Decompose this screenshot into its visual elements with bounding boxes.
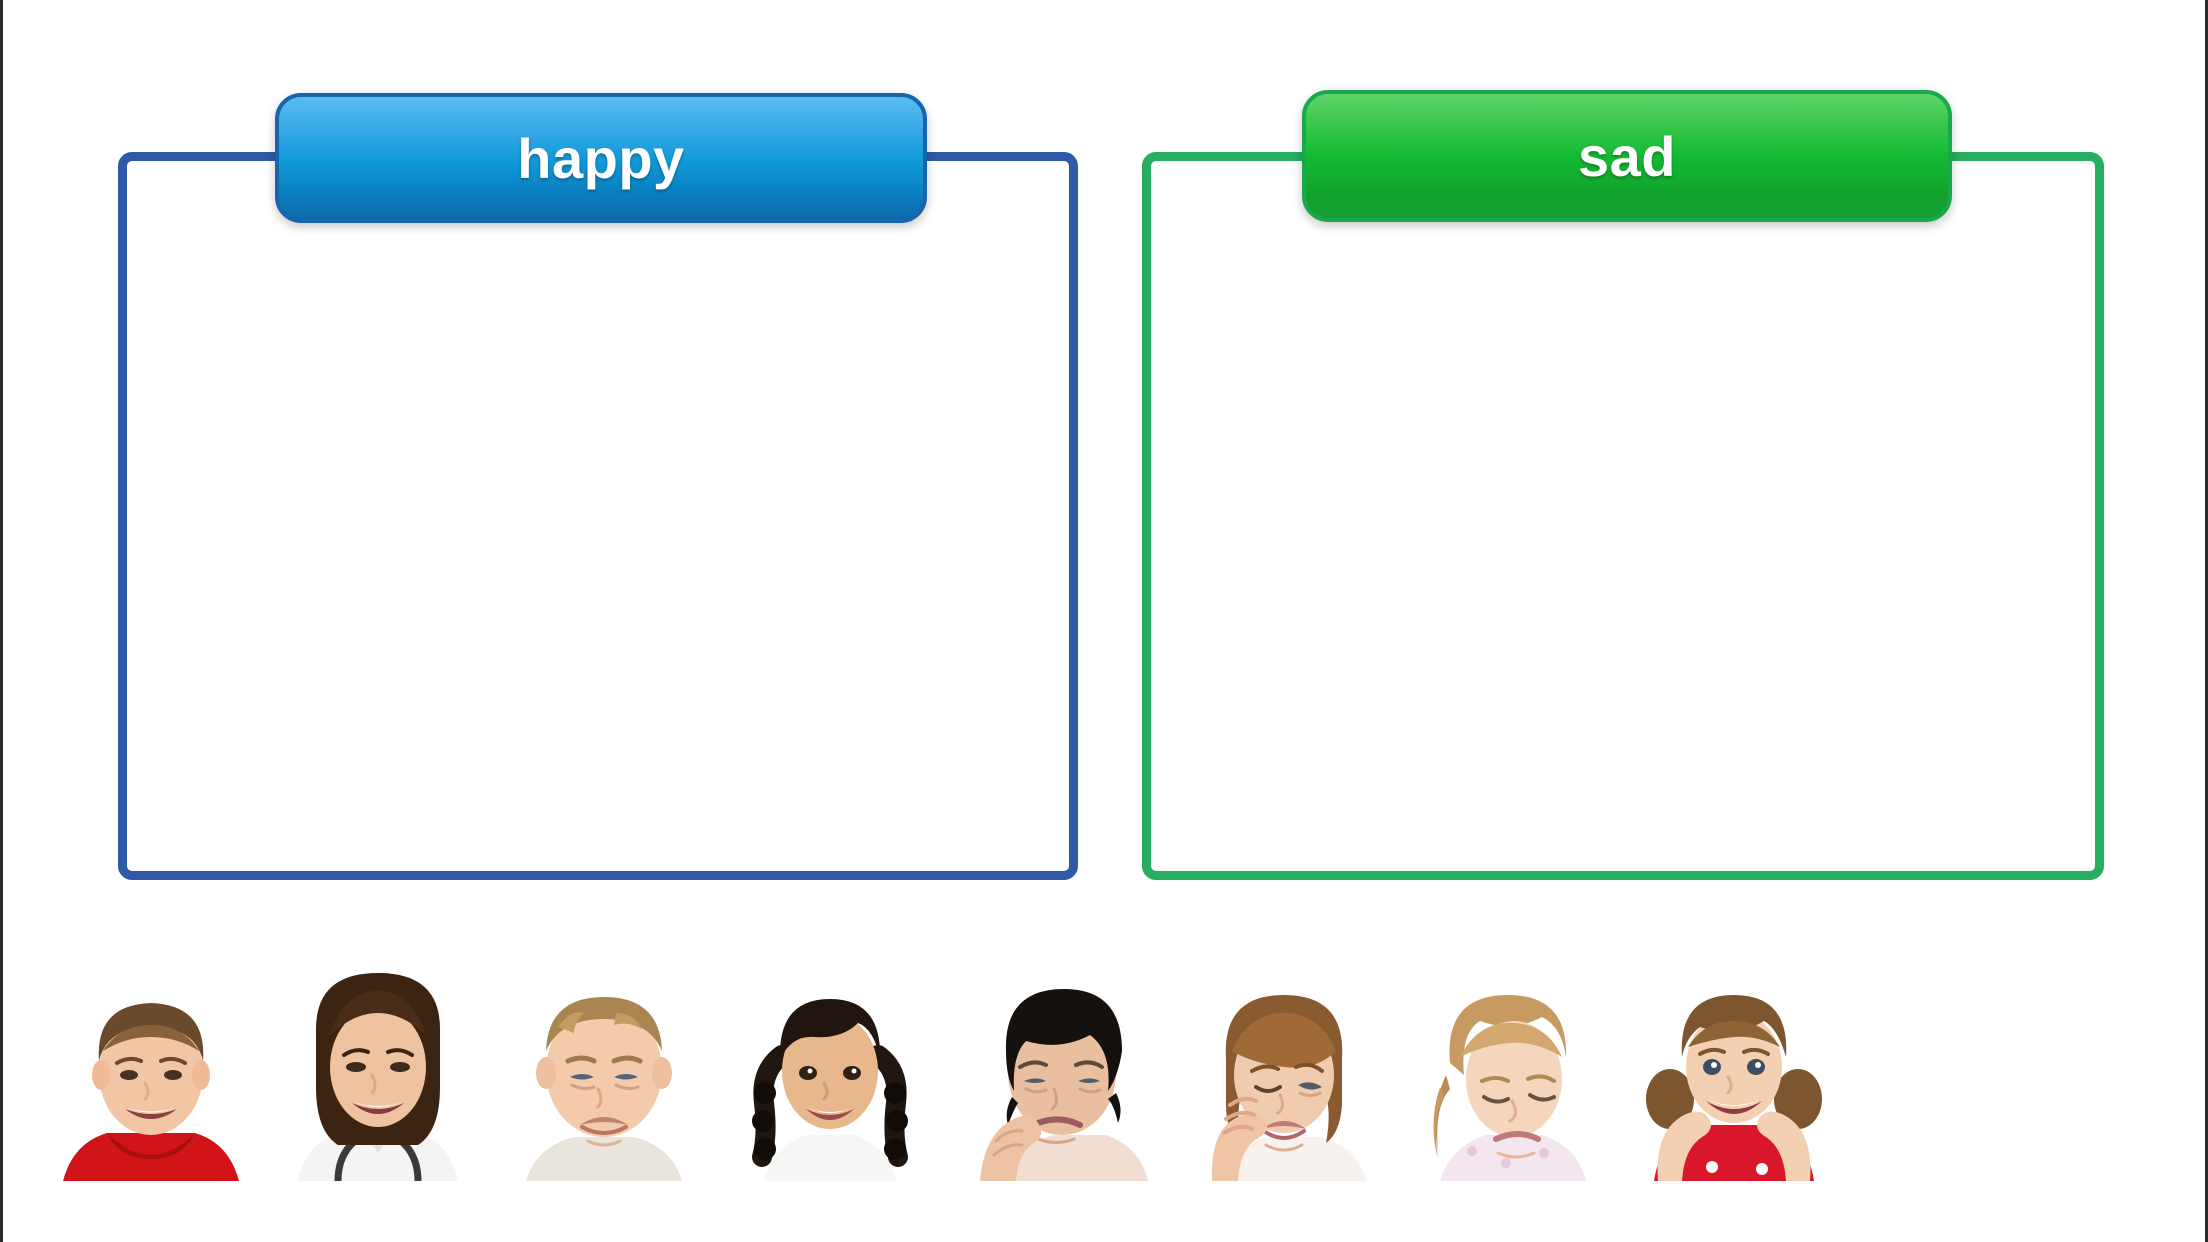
photo-tray (0, 955, 2208, 1185)
photo-pouting-toddler-icon (498, 955, 710, 1181)
tray-item-8[interactable] (1628, 955, 1840, 1181)
tray-item-3[interactable] (498, 955, 710, 1181)
tray-item-1[interactable] (45, 955, 257, 1181)
activity-stage: happy sad (0, 0, 2208, 1242)
category-label-sad[interactable]: sad (1302, 90, 1952, 222)
tray-item-4[interactable] (724, 955, 936, 1181)
photo-sad-girl-looking-down-icon (1402, 955, 1614, 1181)
tray-item-6[interactable] (1176, 955, 1388, 1181)
photo-smiling-woman-white-shirt-icon (272, 955, 484, 1181)
drop-zone-sad[interactable] (1142, 152, 2104, 880)
category-label-happy[interactable]: happy (275, 93, 927, 223)
category-label-happy-text: happy (517, 126, 684, 191)
photo-crying-girl-rubbing-eye-icon (1176, 955, 1388, 1181)
category-label-sad-text: sad (1578, 124, 1676, 189)
photo-smiling-boy-red-shirt-icon (45, 955, 257, 1181)
photo-pensive-older-woman-icon (950, 955, 1162, 1181)
photo-smiling-girl-braids-icon (724, 955, 936, 1181)
tray-item-2[interactable] (272, 955, 484, 1181)
drop-zone-happy[interactable] (118, 152, 1078, 880)
tray-item-7[interactable] (1402, 955, 1614, 1181)
photo-happy-girl-pigtails-polkadot-icon (1628, 955, 1840, 1181)
tray-item-5[interactable] (950, 955, 1162, 1181)
